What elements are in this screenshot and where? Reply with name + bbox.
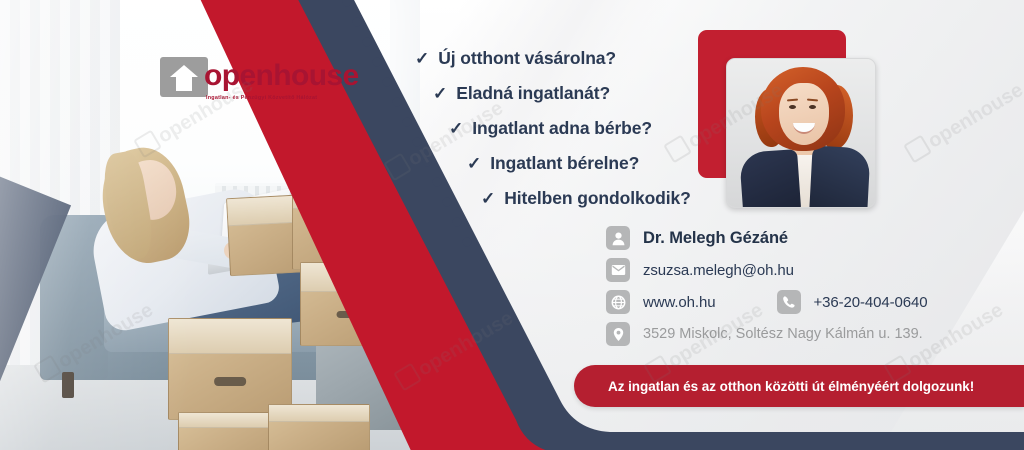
- agent-address: 3529 Miskolc, Soltész Nagy Kálmán u. 139…: [643, 326, 923, 342]
- services-checklist: ✓ Új otthont vásárolna? ✓ Eladná ingatla…: [415, 48, 715, 223]
- house-icon: [169, 64, 199, 92]
- contact-row-name: Dr. Melegh Gézáné: [606, 226, 928, 250]
- envelope-icon: [606, 258, 630, 282]
- agent-website[interactable]: www.oh.hu: [643, 294, 715, 311]
- agent-email[interactable]: zsuzsa.melegh@oh.hu: [643, 262, 794, 279]
- photo-sofa-leg: [62, 372, 74, 398]
- checklist-item-label: Új otthont vásárolna?: [438, 48, 616, 69]
- globe-icon: [606, 290, 630, 314]
- check-icon: ✓: [433, 85, 447, 102]
- person-icon: [606, 226, 630, 250]
- check-icon: ✓: [467, 155, 481, 172]
- checklist-item-label: Eladná ingatlanát?: [456, 83, 610, 104]
- checklist-item: ✓ Ingatlant adna bérbe?: [449, 118, 715, 139]
- checklist-item: ✓ Hitelben gondolkodik?: [481, 188, 715, 209]
- brand-logo: openhouse Ingatlan- és Pénzügyi Közvetít…: [160, 57, 320, 113]
- checklist-item: ✓ Eladná ingatlanát?: [433, 83, 715, 104]
- slogan-text: Az ingatlan és az otthon közötti út élmé…: [608, 379, 974, 394]
- promotional-banner: openhouse Ingatlan- és Pénzügyi Közvetít…: [0, 0, 1024, 450]
- slogan-banner: Az ingatlan és az otthon közötti út élmé…: [574, 365, 1024, 407]
- checklist-item: ✓ Ingatlant bérelne?: [467, 153, 715, 174]
- location-pin-icon: [606, 322, 630, 346]
- check-icon: ✓: [481, 190, 495, 207]
- check-icon: ✓: [415, 50, 429, 67]
- checklist-item-label: Ingatlant bérelne?: [490, 153, 639, 174]
- check-icon: ✓: [449, 120, 463, 137]
- phone-icon: [777, 290, 801, 314]
- agent-phone[interactable]: +36-20-404-0640: [813, 294, 927, 311]
- agent-portrait: [698, 30, 874, 206]
- checklist-item-label: Hitelben gondolkodik?: [504, 188, 691, 209]
- contact-block: Dr. Melegh Gézáné zsuzsa.melegh@oh.hu: [606, 226, 928, 354]
- contact-row-web-phone: www.oh.hu +36-20-404-0640: [606, 290, 928, 314]
- photo-moving-box: [268, 404, 370, 450]
- checklist-item-label: Ingatlant adna bérbe?: [472, 118, 652, 139]
- logo-tagline: Ingatlan- és Pénzügyi Közvetítő Hálózat: [206, 95, 317, 101]
- photo-moving-box: [292, 176, 386, 270]
- photo-moving-box: [300, 262, 398, 346]
- portrait-photo: [726, 58, 876, 208]
- contact-phone-group: +36-20-404-0640: [777, 290, 927, 314]
- contact-row-email[interactable]: zsuzsa.melegh@oh.hu: [606, 258, 928, 282]
- logo-wordmark: openhouse: [204, 59, 359, 93]
- agent-name: Dr. Melegh Gézáné: [643, 229, 788, 248]
- contact-row-address: 3529 Miskolc, Soltész Nagy Kálmán u. 139…: [606, 322, 928, 346]
- checklist-item: ✓ Új otthont vásárolna?: [415, 48, 715, 69]
